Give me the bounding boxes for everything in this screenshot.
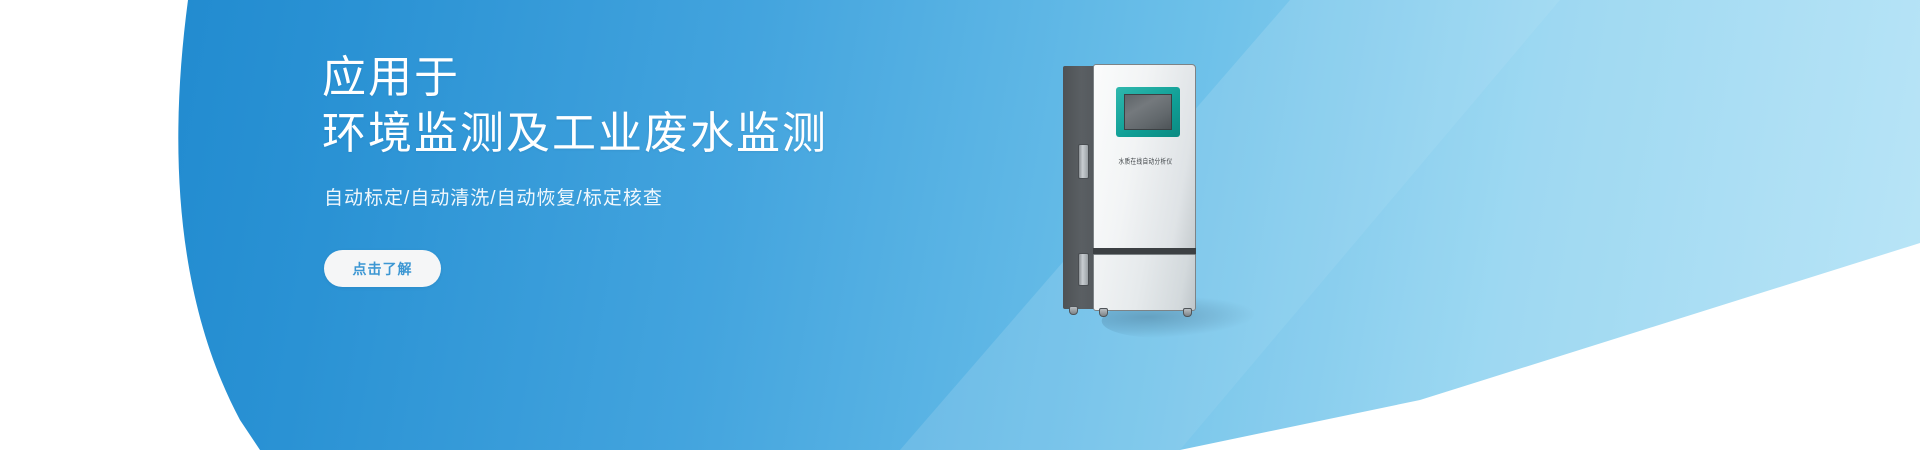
device-front-label: 水质在线自动分析仪 bbox=[1094, 156, 1197, 166]
device-side-panel bbox=[1063, 66, 1096, 309]
device-side-handle-upper bbox=[1078, 144, 1089, 179]
hero-content: 应用于 环境监测及工业废水监测 自动标定/自动清洗/自动恢复/标定核查 点击了解 bbox=[322, 0, 1082, 450]
hero-subtitle: 自动标定/自动清洗/自动恢复/标定核查 bbox=[324, 185, 663, 213]
learn-more-button[interactable]: 点击了解 bbox=[324, 250, 441, 287]
headline-line-1: 应用于 bbox=[322, 53, 460, 102]
device-screen-bezel bbox=[1116, 87, 1180, 137]
device-caster-left bbox=[1069, 306, 1078, 315]
product-image-water-quality-analyzer: 水质在线自动分析仪 bbox=[1055, 58, 1235, 333]
device-lower-cabinet bbox=[1093, 254, 1196, 311]
device-caster-front-left bbox=[1099, 308, 1108, 317]
hero-banner: 应用于 环境监测及工业废水监测 自动标定/自动清洗/自动恢复/标定核查 点击了解… bbox=[0, 0, 1920, 450]
background-white-curve-left bbox=[0, 0, 360, 450]
headline-line-2: 环境监测及工业废水监测 bbox=[322, 106, 828, 162]
device-upper-cabinet: 水质在线自动分析仪 bbox=[1093, 64, 1196, 252]
page-title: 应用于 环境监测及工业废水监测 bbox=[322, 50, 828, 162]
device-display-screen bbox=[1124, 94, 1172, 130]
device-side-handle-lower bbox=[1078, 253, 1089, 286]
device-caster-front-right bbox=[1183, 308, 1192, 317]
